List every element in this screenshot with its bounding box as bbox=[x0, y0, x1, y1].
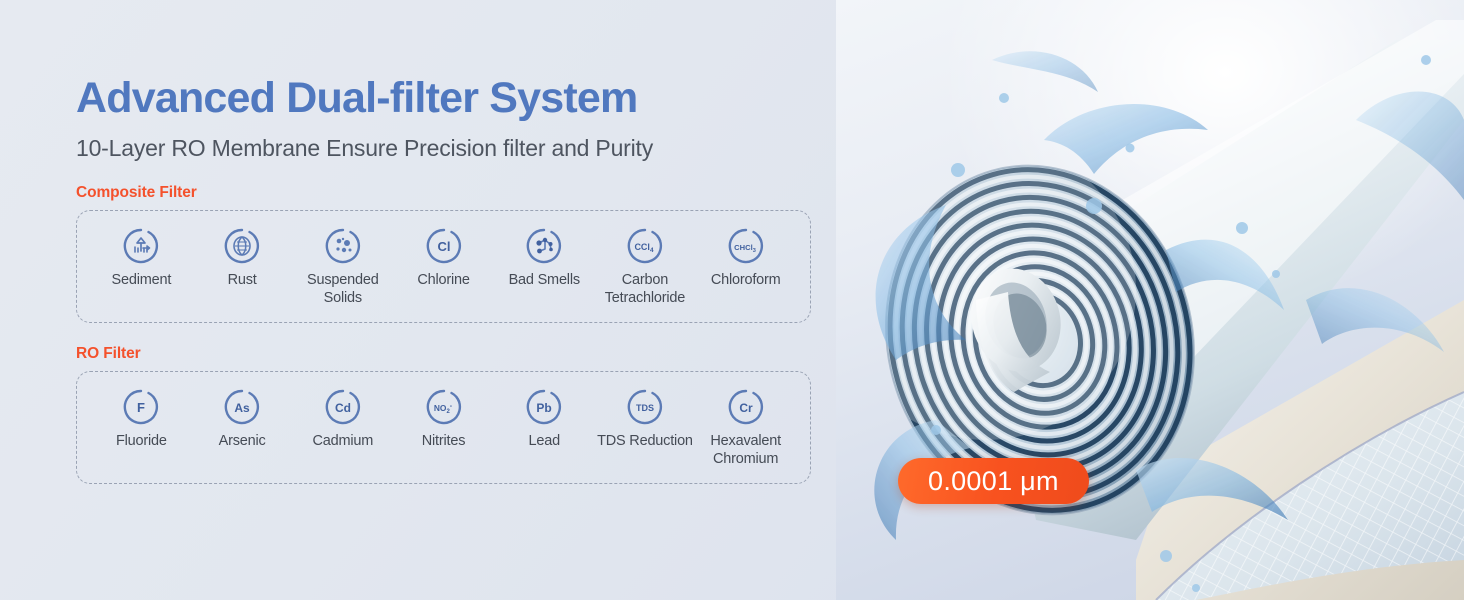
section-composite-filter: Composite Filter Sediment bbox=[76, 184, 840, 323]
svg-text:As: As bbox=[234, 401, 250, 415]
chloroform-ring-icon: CHCl3 bbox=[727, 227, 765, 265]
filter-item-fluoride[interactable]: F Fluoride bbox=[91, 388, 192, 451]
chlorine-ring-icon: Cl bbox=[425, 227, 463, 265]
svg-text:Cl: Cl bbox=[437, 239, 450, 254]
page-subtitle: 10-Layer RO Membrane Ensure Precision fi… bbox=[76, 135, 840, 162]
filter-item-label: Fluoride bbox=[116, 433, 167, 451]
filter-item-label: Bad Smells bbox=[509, 272, 580, 290]
svg-text:NO2-: NO2- bbox=[433, 403, 452, 415]
filter-item-label: Suspended Solids bbox=[292, 272, 393, 308]
promo-banner: 0.0001 μm Advanced Dual-filter System 10… bbox=[0, 0, 1464, 600]
carbon-tetrachloride-ring-icon: CCl4 bbox=[626, 227, 664, 265]
filter-item-label: Chloroform bbox=[711, 272, 781, 290]
filter-item-hexavalent-chromium[interactable]: Cr Hexavalent Chromium bbox=[695, 388, 796, 469]
section-label-ro: RO Filter bbox=[76, 345, 840, 363]
rust-ring-icon bbox=[223, 227, 261, 265]
filter-item-carbon-tetrachloride[interactable]: CCl4 Carbon Tetrachloride bbox=[595, 227, 696, 308]
filter-item-label: TDS Reduction bbox=[597, 433, 693, 451]
micron-badge: 0.0001 μm bbox=[898, 458, 1089, 504]
filter-item-label: Lead bbox=[529, 433, 560, 451]
section-label-composite: Composite Filter bbox=[76, 184, 840, 202]
arsenic-ring-icon: As bbox=[223, 388, 261, 426]
svg-text:F: F bbox=[137, 400, 145, 415]
filter-item-rust[interactable]: Rust bbox=[192, 227, 293, 290]
filter-item-nitrites[interactable]: NO2- Nitrites bbox=[393, 388, 494, 451]
filter-item-tds-reduction[interactable]: TDS TDS Reduction bbox=[595, 388, 696, 451]
filter-item-label: Carbon Tetrachloride bbox=[595, 272, 696, 308]
filter-item-suspended-solids[interactable]: Suspended Solids bbox=[292, 227, 393, 308]
composite-filter-box: Sediment Rust bbox=[76, 210, 811, 323]
ro-filter-box: F Fluoride As Arsenic bbox=[76, 371, 811, 484]
filter-item-bad-smells[interactable]: Bad Smells bbox=[494, 227, 595, 290]
content-column: Advanced Dual-filter System 10-Layer RO … bbox=[0, 0, 840, 600]
cadmium-ring-icon: Cd bbox=[324, 388, 362, 426]
filter-item-chloroform[interactable]: CHCl3 Chloroform bbox=[695, 227, 796, 290]
filter-item-label: Rust bbox=[228, 272, 257, 290]
svg-text:TDS: TDS bbox=[636, 403, 654, 413]
filter-item-cadmium[interactable]: Cd Cadmium bbox=[292, 388, 393, 451]
filter-item-label: Hexavalent Chromium bbox=[695, 433, 796, 469]
filter-item-sediment[interactable]: Sediment bbox=[91, 227, 192, 290]
filter-item-arsenic[interactable]: As Arsenic bbox=[192, 388, 293, 451]
svg-text:Pb: Pb bbox=[537, 401, 552, 415]
ro-membrane-artwork bbox=[836, 0, 1464, 600]
svg-text:Cr: Cr bbox=[739, 401, 753, 415]
membrane-illustration bbox=[836, 0, 1464, 600]
filter-item-label: Cadmium bbox=[312, 433, 373, 451]
filter-item-label: Arsenic bbox=[219, 433, 266, 451]
fluoride-ring-icon: F bbox=[122, 388, 160, 426]
filter-item-label: Nitrites bbox=[422, 433, 466, 451]
suspended-solids-ring-icon bbox=[324, 227, 362, 265]
nitrites-ring-icon: NO2- bbox=[425, 388, 463, 426]
bad-smells-ring-icon bbox=[525, 227, 563, 265]
svg-text:CHCl3: CHCl3 bbox=[734, 243, 756, 254]
tds-reduction-ring-icon: TDS bbox=[626, 388, 664, 426]
filter-item-chlorine[interactable]: Cl Chlorine bbox=[393, 227, 494, 290]
svg-text:CCl4: CCl4 bbox=[634, 242, 654, 254]
section-ro-filter: RO Filter F Fluoride bbox=[76, 345, 840, 484]
lead-ring-icon: Pb bbox=[525, 388, 563, 426]
filter-item-lead[interactable]: Pb Lead bbox=[494, 388, 595, 451]
filter-item-label: Sediment bbox=[112, 272, 172, 290]
sediment-ring-icon bbox=[122, 227, 160, 265]
page-title: Advanced Dual-filter System bbox=[76, 74, 840, 123]
hexavalent-chromium-ring-icon: Cr bbox=[727, 388, 765, 426]
filter-item-label: Chlorine bbox=[417, 272, 469, 290]
svg-text:Cd: Cd bbox=[335, 401, 351, 415]
